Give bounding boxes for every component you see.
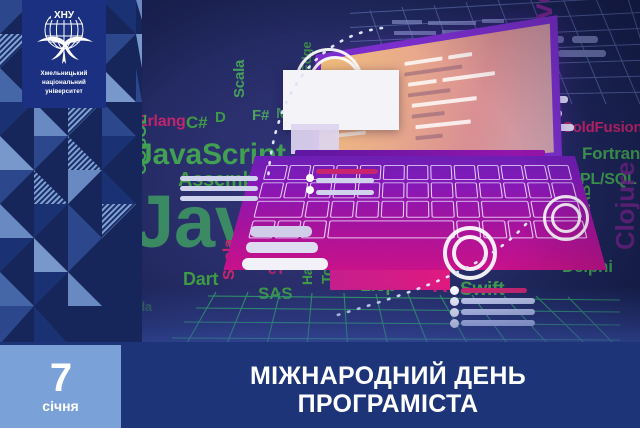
- date-badge: 7 січня: [0, 345, 121, 428]
- date-month: січня: [42, 399, 78, 413]
- bottom-banner: 7 січня МІЖНАРОДНИЙ ДЕНЬ ПРОГРАМІСТА: [0, 342, 640, 428]
- title-line-1: МІЖНАРОДНИЙ ДЕНЬ: [250, 362, 526, 390]
- svg-text:ХНУ: ХНУ: [54, 10, 75, 21]
- poster-canvas: ErlangC#DScalaF#MLSPARQLOpenEdgeJavaScri…: [0, 0, 640, 428]
- title-line-2: ПРОГРАМІСТА: [150, 390, 626, 418]
- university-logo: ХНУ Хмельницький національний університе…: [22, 0, 106, 108]
- poster-title: МІЖНАРОДНИЙ ДЕНЬ ПРОГРАМІСТА: [150, 362, 626, 419]
- date-day: 7: [50, 360, 71, 397]
- globe-book-emblem-icon: ХНУ: [31, 6, 97, 68]
- logo-caption: Хмельницький національний університет: [41, 70, 88, 97]
